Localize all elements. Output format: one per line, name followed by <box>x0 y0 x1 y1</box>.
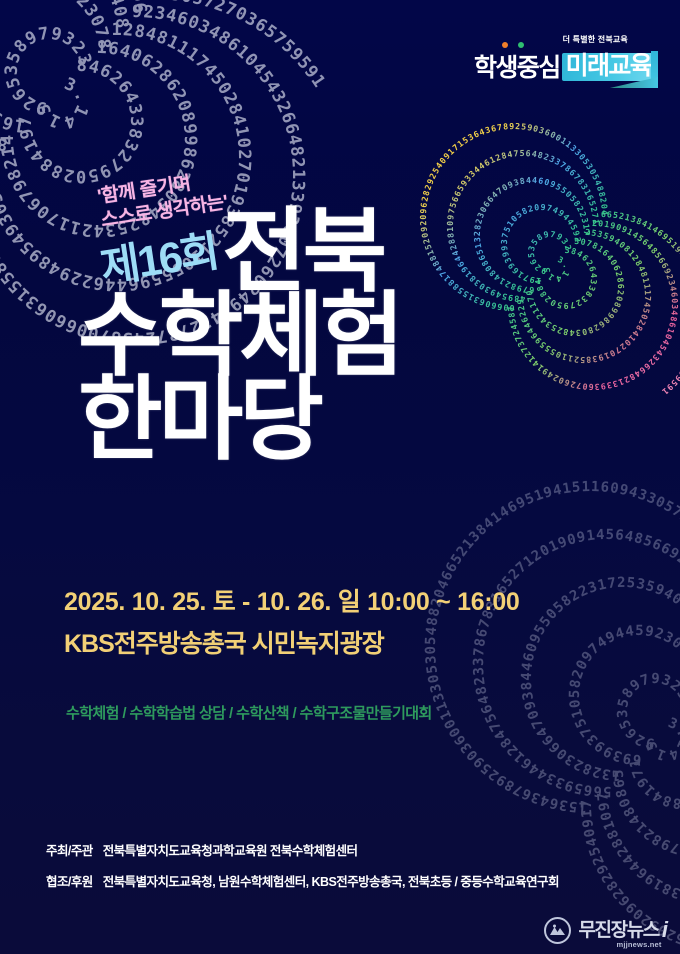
watermark-italic-mark: i <box>662 921 668 940</box>
credits-block: 주최/주관 전북특별자치도교육청과학교육원 전북수학체험센터 협조/후원 전북특… <box>46 840 646 902</box>
event-title-line-3: 한마당 <box>78 376 320 464</box>
credit-label: 주최/주관 <box>46 840 93 859</box>
credit-value: 전북특별자치도교육청과학교육원 전북수학체험센터 <box>103 840 358 859</box>
credit-value: 전북특별자치도교육청, 남원수학체험센터, KBS전주방송총국, 전북초등 / … <box>103 871 559 890</box>
event-info-block: 2025. 10. 25. 토 - 10. 26. 일 10:00 ~ 16:0… <box>64 588 624 659</box>
credit-row: 주최/주관 전북특별자치도교육청과학교육원 전북수학체험센터 <box>46 840 646 859</box>
logo-person-orange-icon <box>502 42 508 48</box>
logo-tagline: 더 특별한 전북교육 <box>474 36 628 44</box>
logo-wordmark-right: 미래교육 <box>562 53 656 81</box>
poster-canvas: 3.14159265358979323846264338327950288419… <box>0 0 680 954</box>
event-edition-number: 제16회 <box>98 231 220 291</box>
logo-wordmark: 학생중심 미래교육 <box>474 47 655 81</box>
event-title-line-1: 전북 <box>222 208 383 296</box>
pi-spiral-right-decoration: 3.14159265358979323846264338327950288419… <box>434 146 680 392</box>
event-title-line-2: 수학체험 <box>78 292 401 380</box>
jeonbuk-education-logo: 더 특별한 전북교육 학생중심 미래교육 <box>474 36 652 90</box>
event-datetime: 2025. 10. 25. 토 - 10. 26. 일 10:00 ~ 16:0… <box>64 588 624 617</box>
logo-person-green-icon <box>518 42 524 48</box>
event-tagline: '함께 즐기며 스스로 생각하는' <box>96 167 229 233</box>
mountain-emblem-icon <box>544 917 571 944</box>
event-program-list: 수학체험 / 수학학습법 상담 / 수학산책 / 수학구조물만들기대회 <box>66 702 432 723</box>
press-watermark: 무진장뉴스 i mjjnews.net <box>544 917 668 944</box>
credit-row: 협조/후원 전북특별자치도교육청, 남원수학체험센터, KBS전주방송총국, 전… <box>46 871 646 890</box>
pi-digits-text: 3.14159265358979323846264338327950288419… <box>418 121 680 397</box>
logo-wordmark-left: 학생중심 <box>474 56 560 81</box>
watermark-url: mjjnews.net <box>616 940 661 949</box>
credit-label: 협조/후원 <box>46 871 93 890</box>
watermark-name: 무진장뉴스 <box>578 921 658 940</box>
event-venue: KBS전주방송총국 시민녹지광장 <box>64 630 624 659</box>
watermark-text: 무진장뉴스 i mjjnews.net <box>578 921 668 940</box>
